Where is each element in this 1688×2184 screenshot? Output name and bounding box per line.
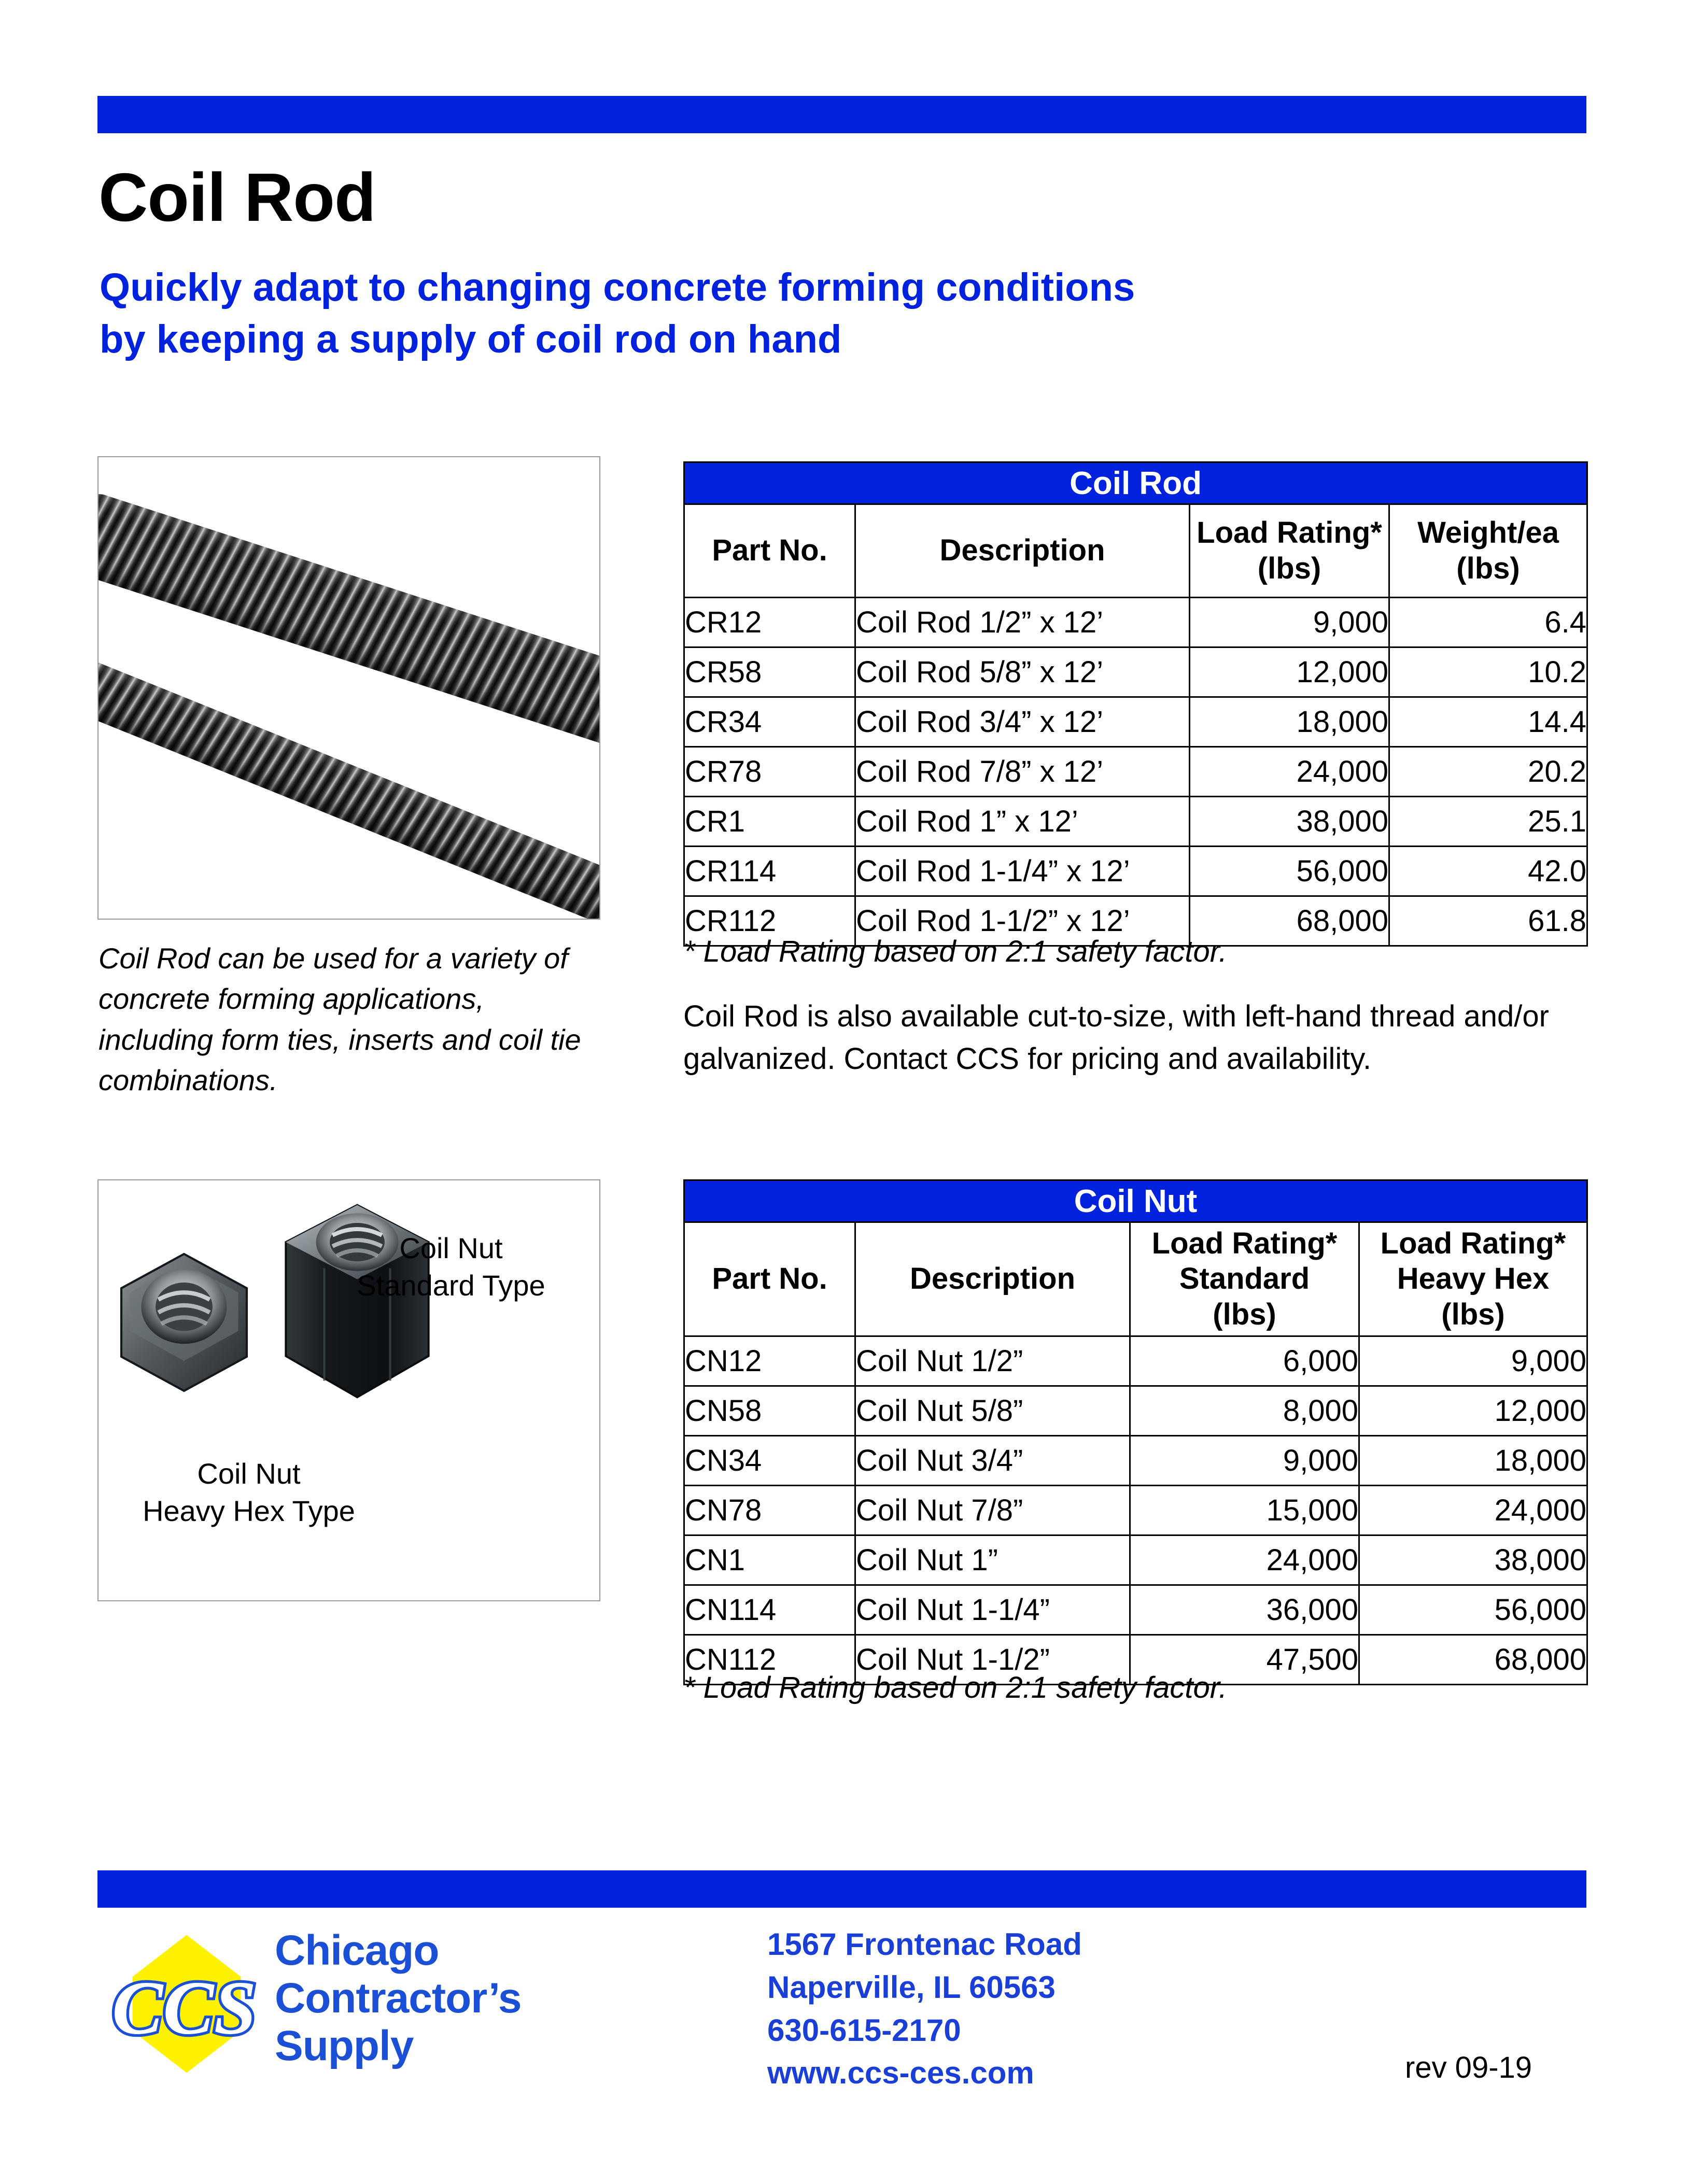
cell-description: Coil Nut 1/2” bbox=[855, 1336, 1130, 1386]
table-row: CN12 Coil Nut 1/2” 6,000 9,000 bbox=[684, 1336, 1587, 1386]
subtitle-line-1: Quickly adapt to changing concrete formi… bbox=[100, 265, 1135, 309]
cell-load-rating: 9,000 bbox=[1190, 598, 1389, 647]
coil-rod-col-load-rating-l2: (lbs) bbox=[1258, 552, 1321, 585]
cell-part: CN58 bbox=[684, 1386, 855, 1436]
table-row: CR58 Coil Rod 5/8” x 12’ 12,000 10.2 bbox=[684, 647, 1587, 697]
cell-weight: 42.0 bbox=[1389, 847, 1587, 896]
cell-weight: 20.2 bbox=[1389, 747, 1587, 797]
cell-weight: 6.4 bbox=[1389, 598, 1587, 647]
cell-part: CN114 bbox=[684, 1585, 855, 1635]
cell-heavy-hex: 24,000 bbox=[1359, 1486, 1587, 1535]
cell-standard: 24,000 bbox=[1130, 1535, 1359, 1585]
coil-rod-caption: Coil Rod can be used for a variety of co… bbox=[99, 938, 607, 1101]
coil-nut-table: Coil Nut Part No. Description Load Ratin… bbox=[683, 1179, 1588, 1685]
cell-heavy-hex: 9,000 bbox=[1359, 1336, 1587, 1386]
cell-load-rating: 12,000 bbox=[1190, 647, 1389, 697]
cell-standard: 8,000 bbox=[1130, 1386, 1359, 1436]
coil-nut-col-heavy-l1: Load Rating* bbox=[1381, 1227, 1566, 1260]
cell-part: CR1 bbox=[684, 797, 855, 847]
coil-rod-table: Coil Rod Part No. Description Load Ratin… bbox=[683, 461, 1588, 947]
wordmark-line-3: Supply bbox=[275, 2022, 413, 2069]
contact-info: 1567 Frontenac Road Naperville, IL 60563… bbox=[767, 1923, 1082, 2095]
subtitle-line-2: by keeping a supply of coil rod on hand bbox=[100, 314, 1499, 365]
coil-nut-col-part: Part No. bbox=[684, 1222, 855, 1336]
company-logo: CCS Chicago Contractor’s Supply bbox=[104, 1926, 684, 2081]
coil-nut-standard-label-l2: Standard Type bbox=[357, 1269, 545, 1302]
cell-load-rating: 24,000 bbox=[1190, 747, 1389, 797]
coil-nut-photo: Coil Nut Standard Type Coil Nut Heavy He… bbox=[97, 1179, 600, 1601]
cell-description: Coil Nut 5/8” bbox=[855, 1386, 1130, 1436]
coil-rod-photo bbox=[97, 456, 600, 920]
coil-nut-col-standard-l1: Load Rating* bbox=[1152, 1227, 1338, 1260]
cell-part: CN12 bbox=[684, 1336, 855, 1386]
table-row: CN78 Coil Nut 7/8” 15,000 24,000 bbox=[684, 1486, 1587, 1535]
bottom-accent-bar bbox=[97, 1870, 1586, 1908]
coil-rod-footnote: * Load Rating based on 2:1 safety factor… bbox=[683, 931, 1585, 973]
cell-heavy-hex: 38,000 bbox=[1359, 1535, 1587, 1585]
coil-nut-col-standard-l3: (lbs) bbox=[1213, 1298, 1276, 1331]
cell-part: CR12 bbox=[684, 598, 855, 647]
revision-label: rev 09-19 bbox=[1405, 2050, 1532, 2085]
address-line-2: Naperville, IL 60563 bbox=[767, 1966, 1082, 2009]
coil-nut-heavy-hex-label: Coil Nut Heavy Hex Type bbox=[119, 1455, 378, 1529]
wordmark-line-1: Chicago bbox=[275, 1927, 439, 1974]
coil-nut-heavy-label-l1: Coil Nut bbox=[197, 1457, 300, 1490]
coil-nut-col-standard-l2: Standard bbox=[1179, 1262, 1310, 1295]
cell-description: Coil Nut 1” bbox=[855, 1535, 1130, 1585]
cell-description: Coil Nut 1-1/4” bbox=[855, 1585, 1130, 1635]
coil-nut-standard-label: Coil Nut Standard Type bbox=[321, 1230, 581, 1304]
table-row: CR114 Coil Rod 1-1/4” x 12’ 56,000 42.0 bbox=[684, 847, 1587, 896]
cell-weight: 10.2 bbox=[1389, 647, 1587, 697]
cell-load-rating: 18,000 bbox=[1190, 697, 1389, 747]
cell-description: Coil Rod 1” x 12’ bbox=[855, 797, 1190, 847]
coil-rod-table-title: Coil Rod bbox=[684, 462, 1587, 504]
coil-nut-heavy-label-l2: Heavy Hex Type bbox=[143, 1495, 355, 1527]
coil-nut-footnote: * Load Rating based on 2:1 safety factor… bbox=[683, 1667, 1585, 1709]
table-row: CN34 Coil Nut 3/4” 9,000 18,000 bbox=[684, 1436, 1587, 1486]
coil-rod-col-load-rating: Load Rating* (lbs) bbox=[1190, 504, 1389, 598]
coil-rod-col-weight-l2: (lbs) bbox=[1456, 552, 1520, 585]
coil-nut-col-heavy-hex: Load Rating* Heavy Hex (lbs) bbox=[1359, 1222, 1587, 1336]
coil-nut-table-title: Coil Nut bbox=[684, 1180, 1587, 1222]
table-row: CR12 Coil Rod 1/2” x 12’ 9,000 6.4 bbox=[684, 598, 1587, 647]
coil-rod-col-description: Description bbox=[855, 504, 1190, 598]
table-row: CR78 Coil Rod 7/8” x 12’ 24,000 20.2 bbox=[684, 747, 1587, 797]
address-line-1: 1567 Frontenac Road bbox=[767, 1923, 1082, 1966]
website-url[interactable]: www.ccs-ces.com bbox=[767, 2052, 1082, 2095]
cell-load-rating: 56,000 bbox=[1190, 847, 1389, 896]
datasheet-page: Coil Rod Quickly adapt to changing concr… bbox=[0, 0, 1688, 2184]
coil-nut-col-heavy-l2: Heavy Hex bbox=[1397, 1262, 1549, 1295]
coil-nut-standard-label-l1: Coil Nut bbox=[399, 1232, 502, 1264]
phone-number[interactable]: 630-615-2170 bbox=[767, 2009, 1082, 2052]
cell-standard: 36,000 bbox=[1130, 1585, 1359, 1635]
cell-part: CR58 bbox=[684, 647, 855, 697]
table-row: CR1 Coil Rod 1” x 12’ 38,000 25.1 bbox=[684, 797, 1587, 847]
cell-description: Coil Rod 7/8” x 12’ bbox=[855, 747, 1190, 797]
coil-rod-col-weight-l1: Weight/ea bbox=[1417, 516, 1559, 549]
cell-description: Coil Nut 3/4” bbox=[855, 1436, 1130, 1486]
cell-weight: 14.4 bbox=[1389, 697, 1587, 747]
cell-description: Coil Rod 1/2” x 12’ bbox=[855, 598, 1190, 647]
cell-part: CN34 bbox=[684, 1436, 855, 1486]
table-row: CN58 Coil Nut 5/8” 8,000 12,000 bbox=[684, 1386, 1587, 1436]
cell-standard: 15,000 bbox=[1130, 1486, 1359, 1535]
table-row: CN1 Coil Nut 1” 24,000 38,000 bbox=[684, 1535, 1587, 1585]
cell-part: CN1 bbox=[684, 1535, 855, 1585]
coil-nut-col-heavy-l3: (lbs) bbox=[1441, 1298, 1504, 1331]
cell-heavy-hex: 12,000 bbox=[1359, 1386, 1587, 1436]
coil-nut-standard-illustration bbox=[99, 1243, 270, 1414]
wordmark-line-2: Contractor’s bbox=[275, 1975, 522, 2022]
cell-part: CN78 bbox=[684, 1486, 855, 1535]
svg-text:CCS: CCS bbox=[112, 1966, 256, 2050]
coil-rod-availability-note: Coil Rod is also available cut-to-size, … bbox=[683, 995, 1585, 1081]
cell-standard: 6,000 bbox=[1130, 1336, 1359, 1386]
page-subtitle: Quickly adapt to changing concrete formi… bbox=[100, 262, 1499, 366]
coil-nut-col-description: Description bbox=[855, 1222, 1130, 1336]
cell-heavy-hex: 56,000 bbox=[1359, 1585, 1587, 1635]
cell-part: CR114 bbox=[684, 847, 855, 896]
table-row: CR34 Coil Rod 3/4” x 12’ 18,000 14.4 bbox=[684, 697, 1587, 747]
cell-part: CR78 bbox=[684, 747, 855, 797]
cell-heavy-hex: 18,000 bbox=[1359, 1436, 1587, 1486]
table-row: CN114 Coil Nut 1-1/4” 36,000 56,000 bbox=[684, 1585, 1587, 1635]
company-wordmark: Chicago Contractor’s Supply bbox=[275, 1927, 522, 2069]
coil-rod-col-part: Part No. bbox=[684, 504, 855, 598]
cell-load-rating: 38,000 bbox=[1190, 797, 1389, 847]
coil-rod-col-load-rating-l1: Load Rating* bbox=[1197, 516, 1382, 549]
ccs-logo-icon: CCS bbox=[109, 1930, 264, 2078]
cell-description: Coil Rod 1-1/4” x 12’ bbox=[855, 847, 1190, 896]
top-accent-bar bbox=[97, 96, 1586, 133]
cell-description: Coil Rod 3/4” x 12’ bbox=[855, 697, 1190, 747]
cell-description: Coil Nut 7/8” bbox=[855, 1486, 1130, 1535]
cell-description: Coil Rod 5/8” x 12’ bbox=[855, 647, 1190, 697]
page-title: Coil Rod bbox=[99, 163, 376, 232]
coil-nut-col-standard: Load Rating* Standard (lbs) bbox=[1130, 1222, 1359, 1336]
cell-weight: 25.1 bbox=[1389, 797, 1587, 847]
coil-rod-col-weight: Weight/ea (lbs) bbox=[1389, 504, 1587, 598]
cell-standard: 9,000 bbox=[1130, 1436, 1359, 1486]
cell-part: CR34 bbox=[684, 697, 855, 747]
